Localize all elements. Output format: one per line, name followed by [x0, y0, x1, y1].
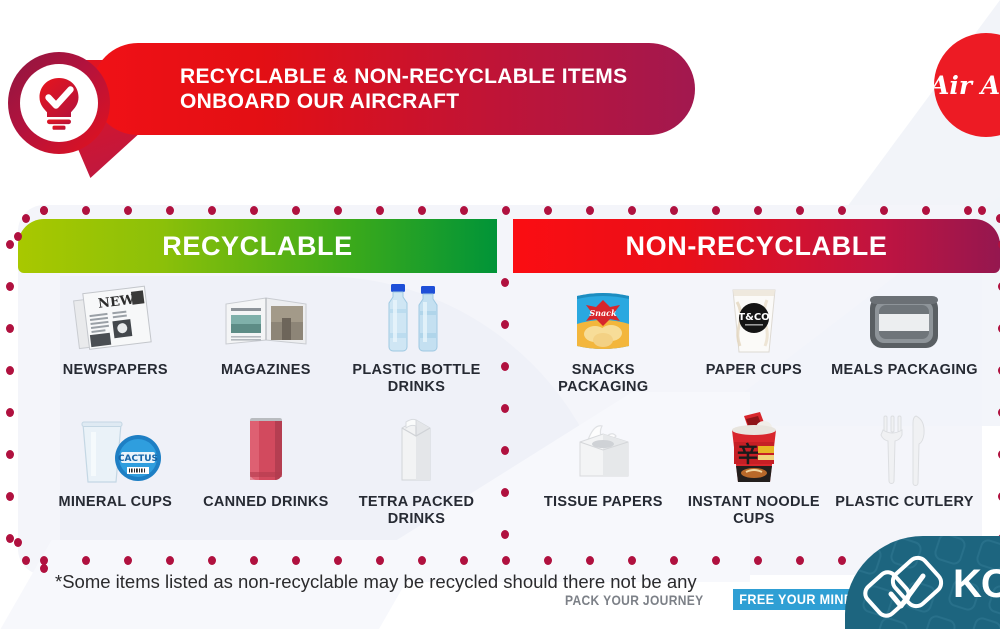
list-item-label: CANNED DRINKS	[203, 494, 329, 511]
list-item-label: MAGAZINES	[221, 362, 311, 379]
noodle-cup-icon: 辛	[679, 410, 830, 486]
list-item: T&CO PAPER CUPS	[679, 278, 830, 396]
frame-dot	[418, 556, 426, 565]
list-item: 辛 INSTANT NOODLE CUPS	[679, 410, 830, 528]
frame-dot	[501, 446, 509, 455]
plastic-cutlery-icon	[829, 410, 980, 486]
frame-dot	[6, 282, 14, 291]
frame-dot	[996, 214, 1000, 223]
frame-dot	[978, 206, 986, 215]
frame-dot	[418, 206, 426, 215]
frame-dot	[586, 206, 594, 215]
frame-dot	[334, 556, 342, 565]
frame-dot	[712, 556, 720, 565]
page-title: RECYCLABLE & NON-RECYCLABLE ITEMS ONBOAR…	[180, 64, 627, 114]
svg-text:T&CO: T&CO	[738, 312, 769, 323]
frame-dot	[501, 320, 509, 329]
frame-dot	[14, 538, 22, 547]
frame-dot	[22, 214, 30, 223]
list-item: MAGAZINES	[191, 278, 342, 396]
category-header-recyclable: RECYCLABLE	[18, 219, 497, 273]
airasia-logo-text: Air Asia	[934, 71, 1000, 100]
frame-dot	[670, 556, 678, 565]
page-title-line1: RECYCLABLE & NON-RECYCLABLE ITEMS	[180, 64, 627, 89]
frame-dot	[376, 556, 384, 565]
frame-dot	[628, 206, 636, 215]
svg-text:辛: 辛	[737, 442, 759, 468]
newspaper-icon: NEWS	[40, 278, 191, 354]
tetra-carton-icon	[341, 410, 492, 486]
frame-dot	[670, 206, 678, 215]
frame-dot	[6, 534, 14, 543]
frame-dot	[22, 556, 30, 565]
frame-dot	[754, 206, 762, 215]
frame-dot	[460, 556, 468, 565]
frame-dot	[124, 206, 132, 215]
frame-dot	[838, 206, 846, 215]
non-recyclable-item-grid: Snack SNACKS PACKAGING T&CO PAPER CUPS	[528, 278, 980, 542]
paper-cup-icon: T&CO	[679, 278, 830, 354]
frame-dot	[964, 206, 972, 215]
tissue-box-icon	[528, 410, 679, 486]
frame-dot	[6, 408, 14, 417]
frame-dot	[880, 206, 888, 215]
list-item-label: INSTANT NOODLE CUPS	[679, 494, 830, 528]
frame-dot	[250, 206, 258, 215]
meal-tray-icon	[829, 278, 980, 354]
kos-logo: KOS ®	[845, 536, 1000, 629]
frame-dot	[628, 556, 636, 565]
page-title-line2: ONBOARD OUR AIRCRAFT	[180, 89, 627, 114]
frame-dot	[208, 206, 216, 215]
tagline-plain: PACK YOUR JOURNEY	[565, 592, 704, 608]
frame-dot	[6, 324, 14, 333]
lightbulb-badge	[8, 52, 110, 154]
frame-dot	[250, 556, 258, 565]
drink-can-icon	[191, 410, 342, 486]
frame-dot	[922, 206, 930, 215]
tagline: PACK YOUR JOURNEY FREE YOUR MIND!	[565, 589, 879, 610]
frame-dot	[501, 404, 509, 413]
frame-dot	[292, 556, 300, 565]
recyclable-item-grid: NEWS NEWSPAPERS	[40, 278, 492, 542]
list-item-label: NEWSPAPERS	[63, 362, 168, 379]
lightbulb-check-icon	[20, 64, 98, 142]
kos-diamond-icon	[861, 550, 947, 628]
infographic-canvas: RECYCLABLE & NON-RECYCLABLE ITEMS ONBOAR…	[0, 0, 1000, 629]
kos-wordmark: KOS	[953, 564, 1000, 604]
list-item: TETRA PACKED DRINKS	[341, 410, 492, 528]
frame-dot	[544, 206, 552, 215]
frame-dot	[334, 206, 342, 215]
frame-dot	[502, 206, 510, 215]
frame-dot	[292, 206, 300, 215]
frame-dot	[82, 206, 90, 215]
frame-dot	[82, 556, 90, 565]
frame-dot	[754, 556, 762, 565]
frame-dot	[6, 450, 14, 459]
frame-dot	[6, 240, 14, 249]
svg-text:CACTUS: CACTUS	[118, 454, 158, 464]
frame-dot	[376, 206, 384, 215]
list-item: MEALS PACKAGING	[829, 278, 980, 396]
frame-dot	[6, 492, 14, 501]
list-item-label: TETRA PACKED DRINKS	[341, 494, 492, 528]
category-label-non-recyclable: NON-RECYCLABLE	[626, 231, 888, 262]
frame-dot	[796, 556, 804, 565]
frame-dot	[796, 206, 804, 215]
frame-dot	[544, 556, 552, 565]
frame-dot	[501, 278, 509, 287]
frame-dot	[460, 206, 468, 215]
frame-dot	[208, 556, 216, 565]
list-item: CACTUS MINERAL CUPS	[40, 410, 191, 528]
list-item-label: PAPER CUPS	[706, 362, 802, 379]
magazine-icon	[191, 278, 342, 354]
list-item-label: PLASTIC CUTLERY	[835, 494, 974, 511]
frame-dot	[502, 556, 510, 565]
list-item-label: TISSUE PAPERS	[544, 494, 663, 511]
list-item: PLASTIC CUTLERY	[829, 410, 980, 528]
frame-dot	[14, 232, 22, 241]
header-banner: RECYCLABLE & NON-RECYCLABLE ITEMS ONBOAR…	[92, 43, 695, 135]
mineral-cup-icon: CACTUS	[40, 410, 191, 486]
frame-dot	[586, 556, 594, 565]
list-item-label: SNACKS PACKAGING	[528, 362, 679, 396]
list-item: TISSUE PAPERS	[528, 410, 679, 528]
category-label-recyclable: RECYCLABLE	[162, 231, 353, 262]
frame-dot	[166, 206, 174, 215]
list-item-label: MEALS PACKAGING	[831, 362, 978, 379]
svg-text:Snack: Snack	[590, 308, 618, 318]
list-item: PLASTIC BOTTLE DRINKS	[341, 278, 492, 396]
frame-dot	[40, 206, 48, 215]
frame-dot	[501, 362, 509, 371]
frame-dot	[712, 206, 720, 215]
frame-dot	[124, 556, 132, 565]
frame-dot	[501, 488, 509, 497]
frame-dot	[501, 530, 509, 539]
list-item-label: MINERAL CUPS	[58, 494, 172, 511]
list-item: CANNED DRINKS	[191, 410, 342, 528]
plastic-bottle-icon	[341, 278, 492, 354]
list-item: Snack SNACKS PACKAGING	[528, 278, 679, 396]
frame-dot	[6, 366, 14, 375]
category-header-non-recyclable: NON-RECYCLABLE	[513, 219, 1000, 273]
list-item: NEWS NEWSPAPERS	[40, 278, 191, 396]
frame-dot	[166, 556, 174, 565]
frame-dot	[40, 564, 48, 573]
list-item-label: PLASTIC BOTTLE DRINKS	[341, 362, 492, 396]
snack-bag-icon: Snack	[528, 278, 679, 354]
